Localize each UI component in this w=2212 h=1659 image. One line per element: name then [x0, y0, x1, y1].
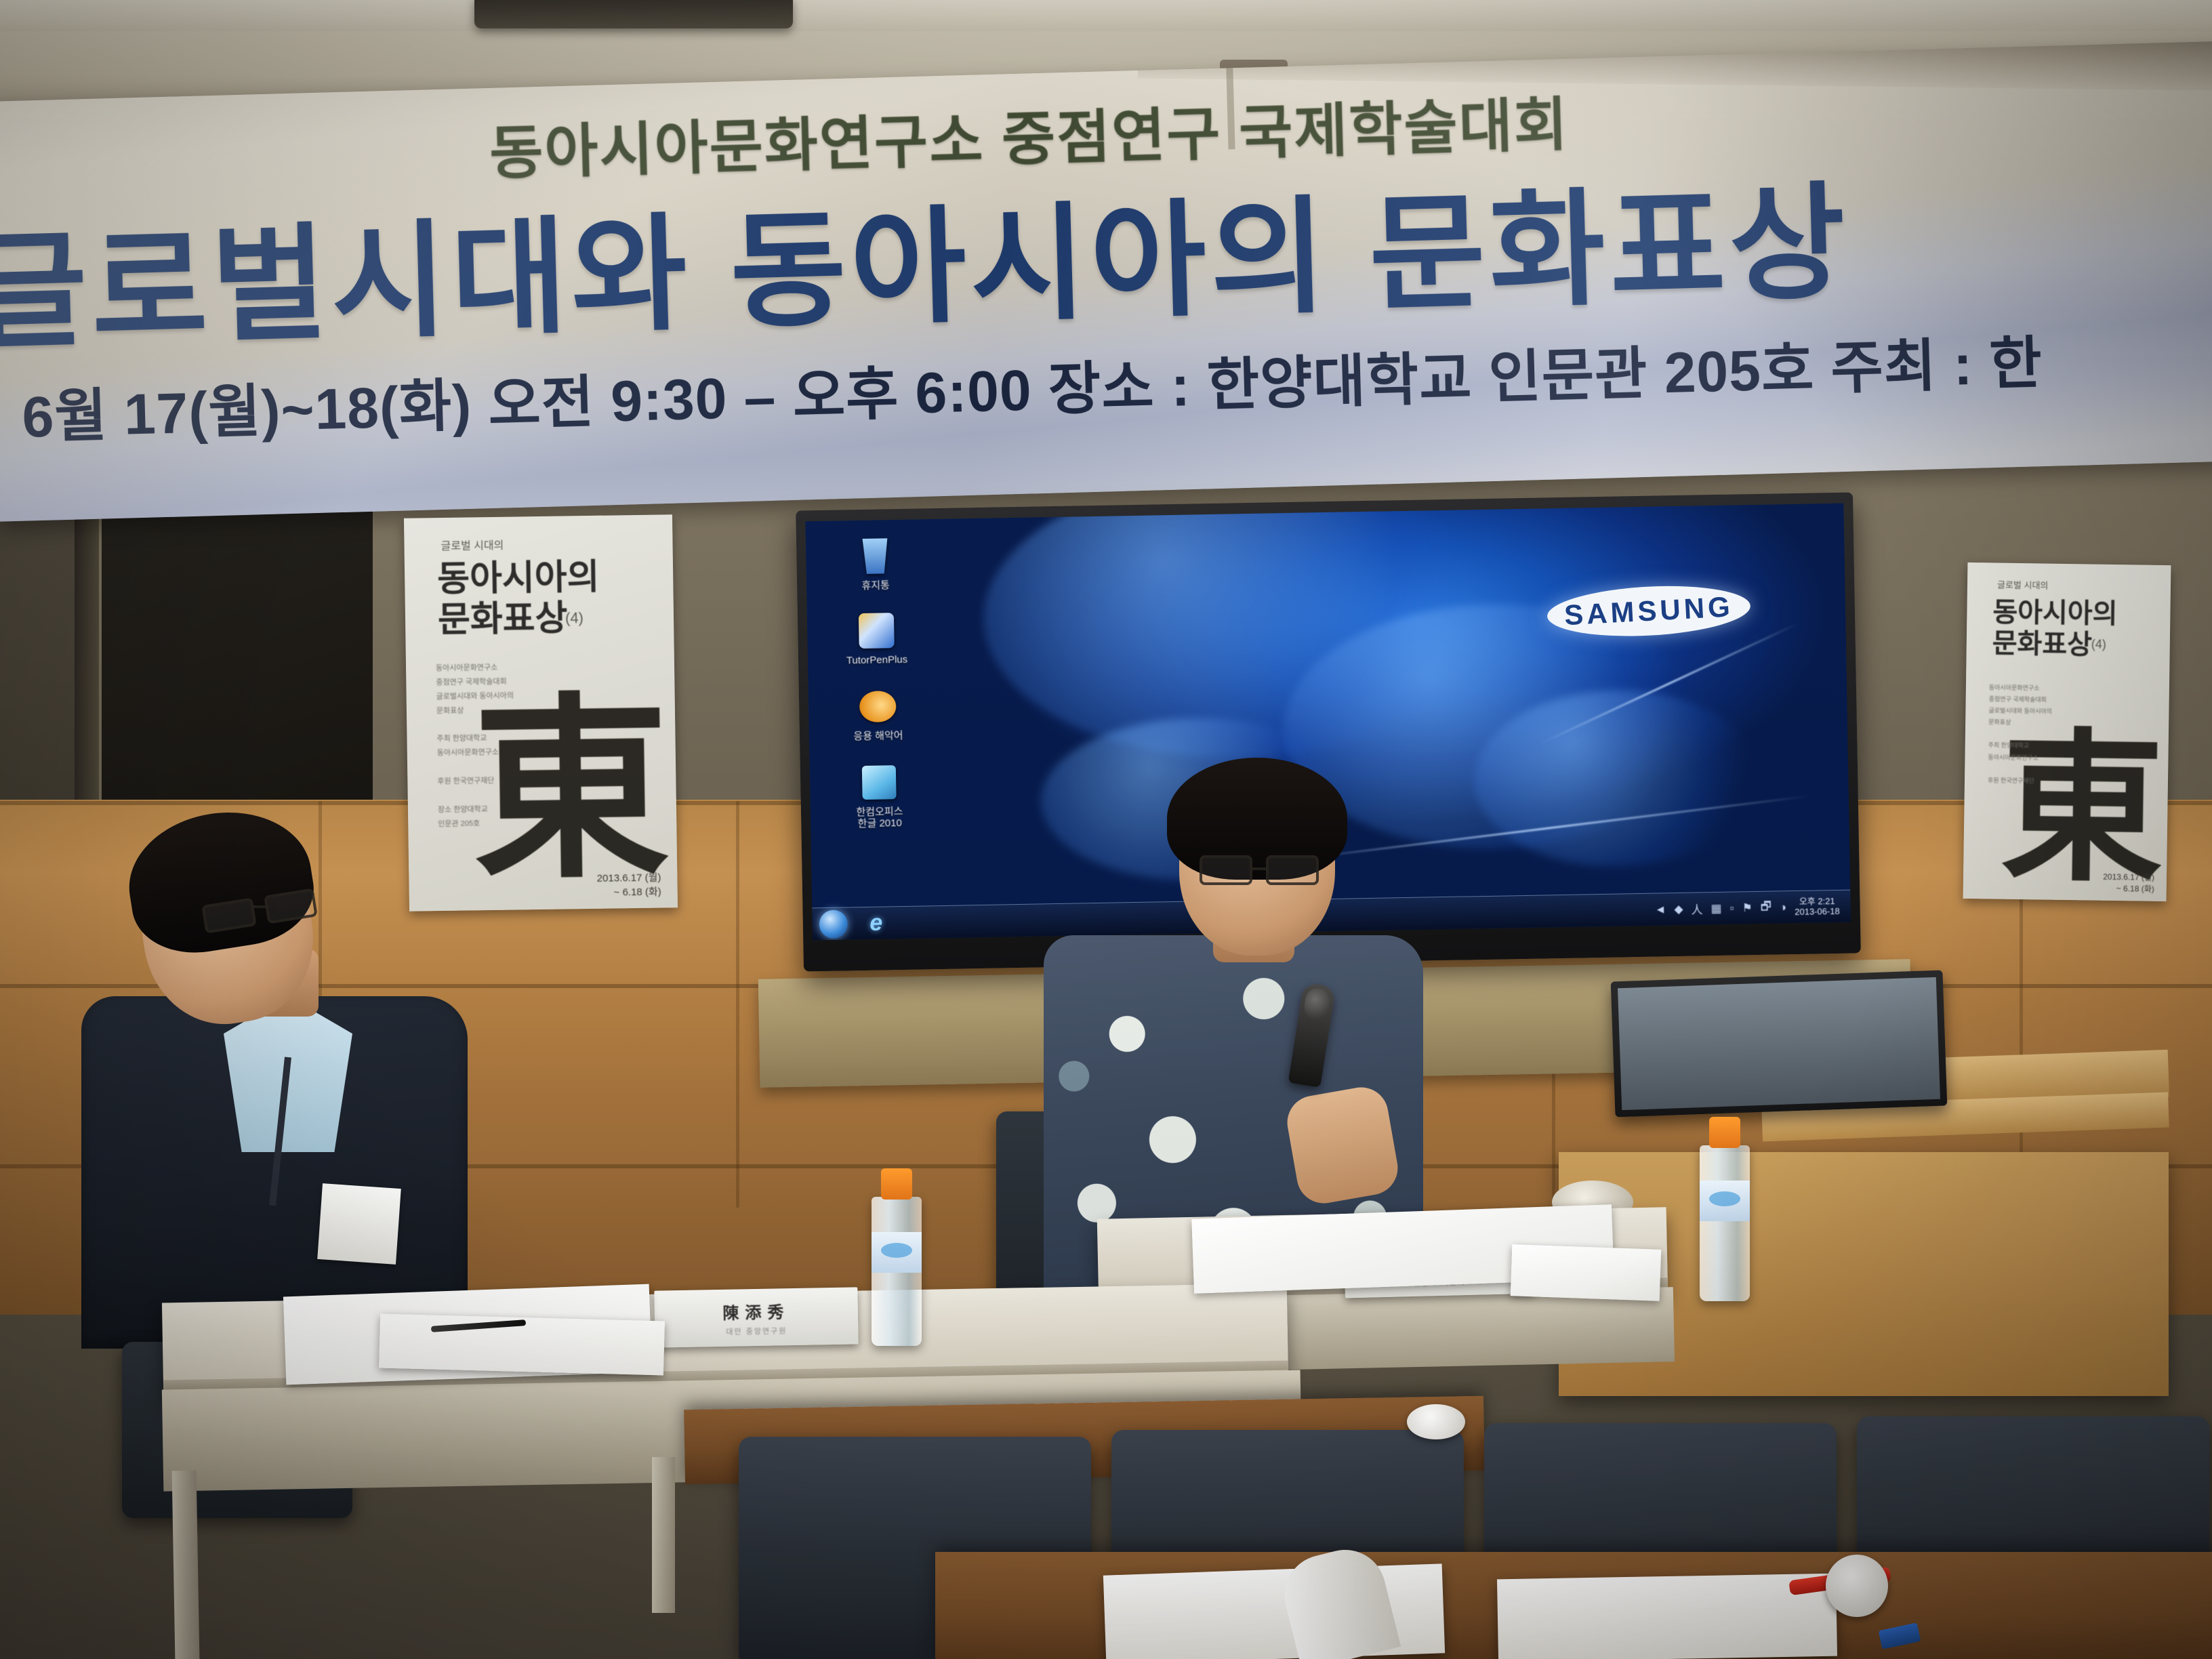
- tray-glyph-2[interactable]: 人: [1691, 900, 1702, 917]
- tutorpenplus-label: TutorPenPlus: [836, 654, 918, 667]
- wood-seam-vertical: [736, 801, 739, 1208]
- tray-glyph-1[interactable]: ◆: [1674, 902, 1683, 916]
- internet-explorer-icon[interactable]: e: [862, 909, 890, 937]
- speaker-hand: [1283, 1083, 1402, 1208]
- name-badge: [317, 1183, 401, 1265]
- lectern-monitor-screen: [1618, 977, 1940, 1110]
- tray-glyph-4[interactable]: ▫: [1729, 901, 1734, 915]
- tray-glyph-5[interactable]: ⚑: [1742, 901, 1753, 915]
- open-notebook-right-page: [1497, 1574, 1837, 1659]
- poster-right: 글로벌 시대의 동아시아의 문화표상 (4) 東 동아시아문화연구소 중점연구 …: [1963, 562, 2171, 901]
- taskbar-clock[interactable]: 오후 2:21 2013-06-18: [1795, 897, 1840, 917]
- hancom-viewer-icon[interactable]: 응용 해악어: [837, 687, 919, 743]
- bottle-label: [1700, 1181, 1750, 1221]
- bottle-cap: [1709, 1117, 1740, 1148]
- clock-date: 2013-06-18: [1795, 906, 1840, 916]
- system-tray[interactable]: ◄ ◆ 人 ▦ ▫ ⚑ 🗗 ◑ 오후 2:21 2013-06-18: [1654, 897, 1850, 920]
- poster-title-line2: 문화표상: [1992, 621, 2092, 661]
- bottle-label: [872, 1232, 922, 1273]
- hancom-viewer-glyph: [857, 687, 899, 726]
- ceiling-strip: [0, 0, 2212, 31]
- speaker-hair: [1167, 758, 1347, 880]
- panelist-glasses-bridge: [253, 905, 268, 908]
- poster-volume: (4): [565, 609, 583, 627]
- poster-body: 동아시아문화연구소 중점연구 국제학술대회 글로벌시대와 동아시아의 문화표상 …: [436, 660, 533, 832]
- samsung-logo: SAMSUNG: [1546, 581, 1751, 641]
- hangul-2010-icon[interactable]: 한컴오피스 한글 2010: [838, 762, 921, 831]
- tray-glyph-7[interactable]: ◑: [1780, 901, 1787, 914]
- water-bottle-right: [1700, 1145, 1750, 1301]
- poster-body: 동아시아문화연구소 중점연구 국제학술대회 글로벌시대와 동아시아의 문화표상 …: [1988, 682, 2068, 787]
- tray-glyph-0[interactable]: ◄: [1654, 903, 1666, 916]
- hangul-2010-label: 한컴오피스 한글 2010: [839, 806, 921, 831]
- start-button-icon[interactable]: [819, 909, 848, 939]
- tutorpenplus-icon[interactable]: TutorPenPlus: [836, 611, 918, 667]
- poster-date: 2013.6.17 (월) ~ 6.18 (화): [597, 870, 661, 899]
- ceiling-vent: [474, 0, 793, 28]
- nameplate-left: 陳添秀 대만 중앙연구원: [654, 1287, 858, 1347]
- poster-eyebrow: 글로벌 시대의: [1997, 578, 2049, 592]
- hancom-viewer-label: 응용 해악어: [838, 730, 919, 743]
- tray-glyph-3[interactable]: ▦: [1711, 901, 1721, 915]
- table-leg: [652, 1457, 675, 1613]
- hangul-2010-glyph: [858, 762, 901, 802]
- tutorpenplus-glyph: [855, 611, 898, 651]
- nameplate-left-name: 陳添秀: [722, 1298, 790, 1324]
- speaker-glasses-right-lens: [1266, 855, 1319, 885]
- poster-volume: (4): [2091, 637, 2106, 651]
- poster-date: 2013.6.17 (월) ~ 6.18 (화): [2103, 871, 2154, 895]
- bottle-cap: [881, 1168, 912, 1200]
- speaker-papers-2: [1511, 1244, 1662, 1301]
- recycle-bin-glyph: [854, 536, 897, 576]
- table-leg: [172, 1471, 200, 1659]
- recycle-bin-label: 휴지통: [835, 579, 916, 592]
- poster-left: 글로벌 시대의 동아시아의 문화표상 (4) 東 동아시아문화연구소 중점연구 …: [404, 514, 678, 911]
- white-eraser-mid: [1407, 1404, 1465, 1439]
- nameplate-left-affiliation: 대만 중앙연구원: [726, 1325, 787, 1337]
- lectern-monitor: [1611, 970, 1948, 1118]
- recycle-bin-icon[interactable]: 휴지통: [834, 536, 916, 592]
- conference-room-photo: 동아시아문화연구소 중점연구 국제학술대회 글로벌시대와 동아시아의 문화표상 …: [0, 0, 2212, 1659]
- conference-banner: 동아시아문화연구소 중점연구 국제학술대회 글로벌시대와 동아시아의 문화표상 …: [0, 41, 2212, 522]
- poster-title-line2: 문화표상: [437, 589, 567, 642]
- white-eraser-front: [1826, 1555, 1888, 1617]
- speaker-glasses-left-lens: [1200, 855, 1252, 885]
- samsung-wordmark: SAMSUNG: [1563, 590, 1734, 632]
- water-bottle-left: [872, 1197, 922, 1346]
- speaker-glasses-bridge: [1252, 867, 1267, 870]
- tray-glyph-6[interactable]: 🗗: [1761, 898, 1771, 918]
